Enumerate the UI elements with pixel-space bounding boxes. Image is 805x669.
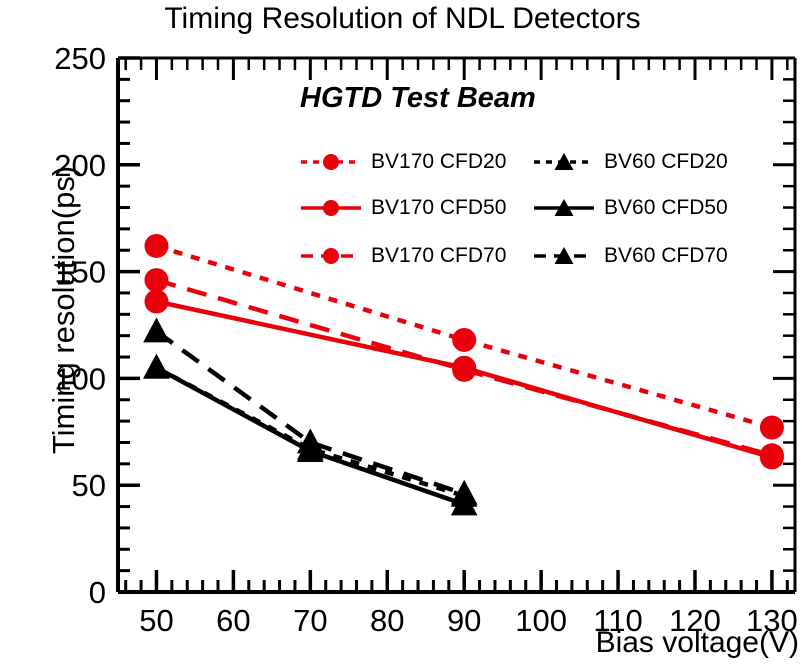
x-tick-label: 70 (293, 603, 327, 638)
legend-item[interactable]: BV60 CFD50 (533, 196, 728, 220)
legend-label: BV170 CFD70 (371, 244, 506, 268)
x-tick-label: 100 (515, 603, 567, 638)
data-point-marker (144, 290, 168, 314)
data-point-marker (760, 416, 784, 440)
plot-annotation: HGTD Test Beam (300, 82, 536, 115)
legend-label: BV170 CFD50 (371, 196, 506, 220)
data-point-marker (452, 358, 476, 382)
data-point-marker (760, 443, 784, 467)
legend-symbol (533, 245, 595, 267)
data-point-marker (144, 234, 168, 258)
x-tick-label: 60 (216, 603, 250, 638)
legend-symbol (533, 151, 595, 173)
legend-symbol (300, 197, 362, 219)
x-tick-label: 80 (370, 603, 404, 638)
data-point-marker (143, 354, 170, 379)
legend-item[interactable]: BV170 CFD50 (300, 196, 506, 220)
y-tick-label: 0 (89, 575, 106, 610)
chart-root: Timing Resolution of NDL Detectors Timin… (0, 0, 805, 669)
legend-item[interactable]: BV60 CFD20 (533, 150, 728, 174)
x-tick-label: 50 (139, 603, 173, 638)
data-point-marker (144, 268, 168, 292)
data-point-marker (143, 317, 170, 342)
legend-label: BV170 CFD20 (371, 150, 506, 174)
x-tick-label: 90 (447, 603, 481, 638)
legend-symbol (300, 245, 362, 267)
data-point-marker (452, 328, 476, 352)
data-point-marker (297, 428, 324, 453)
legend-item[interactable]: BV170 CFD70 (300, 244, 506, 268)
x-axis-label: Bias voltage(V) (596, 626, 799, 660)
legend-label: BV60 CFD50 (604, 196, 728, 220)
page-title: Timing Resolution of NDL Detectors (0, 2, 805, 36)
legend-label: BV60 CFD70 (604, 244, 728, 268)
legend-item[interactable]: BV170 CFD20 (300, 150, 506, 174)
legend-symbol (533, 197, 595, 219)
y-axis-label: Timing resolution(ps) (46, 50, 82, 570)
legend-symbol (300, 151, 362, 173)
legend-item[interactable]: BV60 CFD70 (533, 244, 728, 268)
legend-label: BV60 CFD20 (604, 150, 728, 174)
